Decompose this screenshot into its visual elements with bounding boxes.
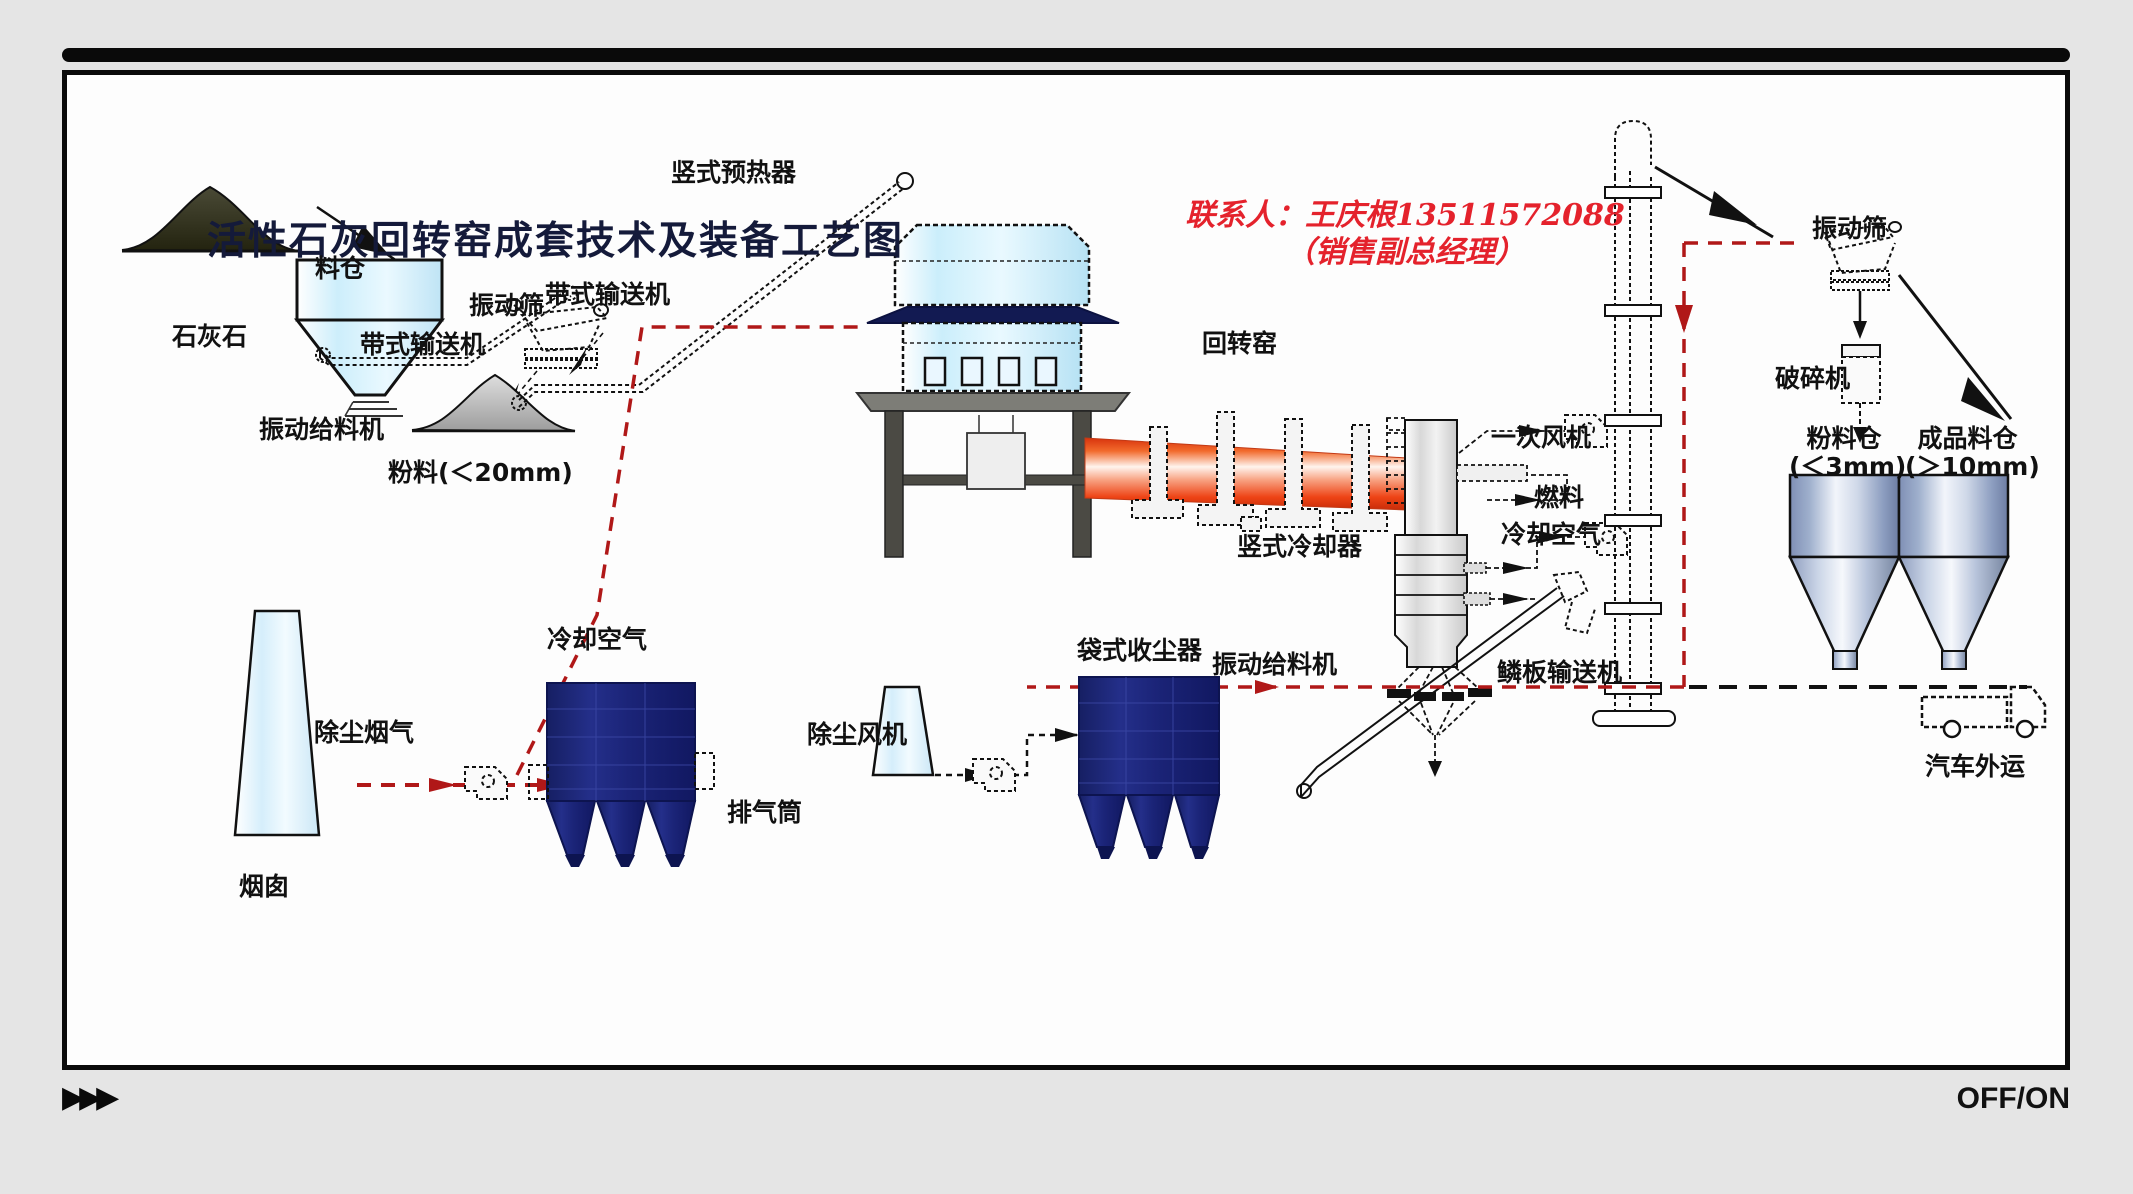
label-crusher: 破碎机	[1775, 359, 1850, 395]
label-dedust-fan: 除尘风机	[807, 715, 907, 751]
label-limestone: 石灰石	[172, 317, 247, 353]
off-on-toggle[interactable]: OFF/ON	[1957, 1082, 2070, 1116]
top-accent-bar	[62, 48, 2070, 62]
label-vibrating-feeder-2: 振动给料机	[1212, 645, 1337, 681]
play-arrows-icon[interactable]: ▶▶▶	[62, 1083, 113, 1113]
label-exhaust-stack: 排气筒	[727, 793, 802, 829]
contact-line-1: 联系人：王庆根13511572088	[1155, 197, 1655, 234]
diagram-root: 活性石灰回转窑成套技术及装备工艺图 联系人：王庆根13511572088 （销售…	[0, 0, 2133, 1194]
label-powder-silo-size: (＜3mm)	[1789, 447, 1899, 483]
label-dedust-flue-gas: 除尘烟气	[314, 713, 414, 749]
label-rotary-kiln: 回转窑	[1202, 324, 1277, 360]
page-title: 活性石灰回转窑成套技术及装备工艺图	[207, 210, 904, 266]
dedust-fan-icon	[973, 759, 1015, 791]
label-hopper: 料仓	[315, 249, 365, 285]
label-chimney: 烟囱	[239, 867, 289, 903]
dedust-fan-lines	[935, 735, 1077, 775]
vertical-cooler-graphic	[1387, 418, 1492, 777]
bottom-bar: ▶▶▶ OFF/ON	[62, 1078, 2070, 1138]
label-cooling-air-kiln: 冷却空气	[1501, 515, 1601, 551]
powder-pile-graphic	[412, 375, 575, 431]
vertical-preheater-graphic	[857, 225, 1129, 557]
label-primary-fan: 一次风机	[1491, 418, 1591, 454]
label-vibrating-feeder-1: 振动给料机	[259, 410, 384, 446]
contact-line-2: （销售副总经理）	[1155, 234, 1655, 271]
label-vibrating-screen-2: 振动筛	[1812, 209, 1887, 245]
flow-line-red-dashed	[517, 243, 1797, 775]
label-vertical-preheater: 竖式预热器	[671, 153, 796, 189]
diagram-panel: 活性石灰回转窑成套技术及装备工艺图 联系人：王庆根13511572088 （销售…	[62, 70, 2070, 1070]
label-vibrating-screen-1: 振动筛	[469, 286, 544, 322]
label-bag-filter: 袋式收尘器	[1077, 631, 1202, 667]
rotary-kiln-graphic	[1085, 412, 1407, 531]
label-cooling-air-line: 冷却空气	[547, 620, 647, 656]
contact-info: 联系人：王庆根13511572088 （销售副总经理）	[1155, 197, 1655, 271]
label-product-silo-size: (＞10mm)	[1905, 447, 2030, 483]
label-belt-conveyor-1: 带式输送机	[360, 325, 485, 361]
label-vertical-cooler: 竖式冷却器	[1237, 527, 1362, 563]
bag-filter-left-graphic	[529, 683, 714, 867]
bag-filter-right-graphic	[1079, 677, 1219, 859]
label-belt-conveyor-2: 带式输送机	[545, 275, 670, 311]
label-truck-transport: 汽车外运	[1925, 747, 2025, 783]
label-fuel: 燃料	[1534, 478, 1584, 514]
label-apron-conveyor: 鳞板输送机	[1497, 653, 1622, 689]
chimney-graphic	[235, 611, 319, 835]
product-silos-graphic	[1790, 475, 2008, 669]
truck-icon	[1922, 687, 2045, 727]
label-powder-20mm: 粉料(＜20mm)	[388, 453, 573, 489]
chimney-fan-icon	[465, 767, 507, 799]
